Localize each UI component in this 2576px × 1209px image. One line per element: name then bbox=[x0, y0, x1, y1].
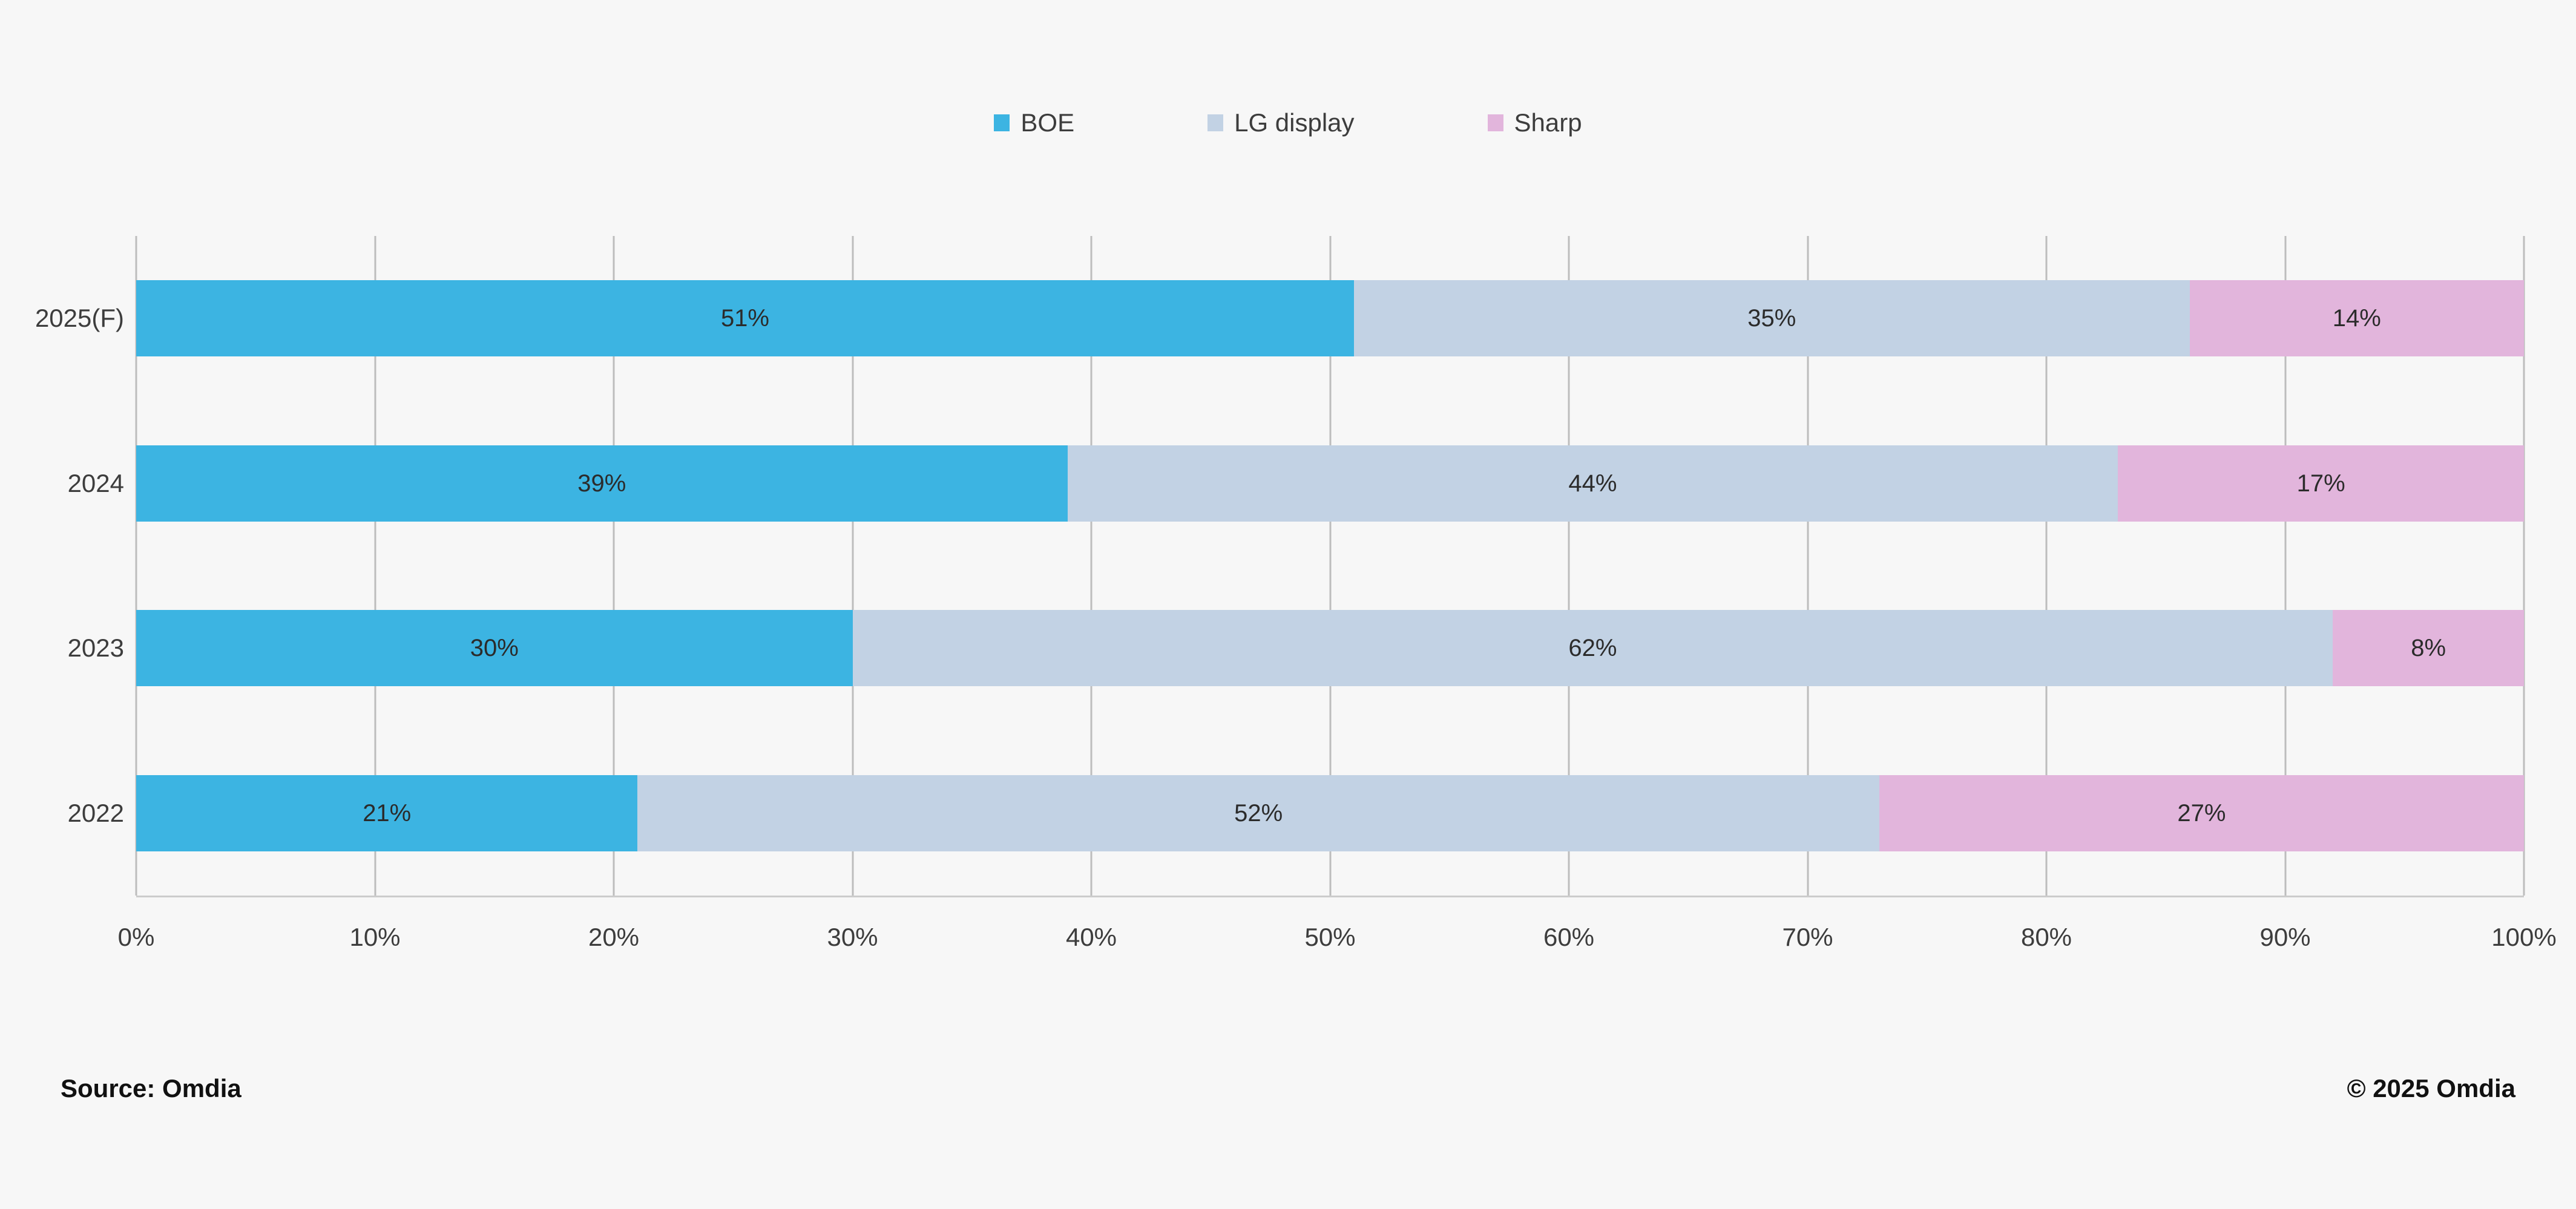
bar-segment-label: 44% bbox=[1568, 471, 1617, 496]
x-axis-tick-20: 20% bbox=[588, 925, 639, 950]
source-note: Source: Omdia bbox=[61, 1076, 241, 1101]
legend-swatch-boe bbox=[994, 114, 1010, 131]
legend-label-lg-display: LG display bbox=[1234, 110, 1354, 136]
bar-segment-label: 14% bbox=[2333, 306, 2381, 330]
bar-rows: 51%35%14%39%44%17%30%62%8%21%52%27% bbox=[136, 236, 2524, 896]
bar-segment-lg-display[interactable]: 52% bbox=[637, 775, 1879, 851]
bar-segment-label: 17% bbox=[2297, 471, 2345, 496]
y-axis-label-2022: 2022 bbox=[0, 801, 124, 826]
bar-row: 39%44%17% bbox=[136, 445, 2524, 522]
bar-segment-sharp[interactable]: 8% bbox=[2333, 610, 2524, 686]
x-axis-tick-40: 40% bbox=[1066, 925, 1117, 950]
x-axis-tick-60: 60% bbox=[1543, 925, 1594, 950]
bar-segment-label: 39% bbox=[577, 471, 626, 496]
bar-segment-label: 8% bbox=[2411, 636, 2446, 660]
bar-segment-boe[interactable]: 39% bbox=[136, 445, 1068, 522]
bar-segment-lg-display[interactable]: 62% bbox=[853, 610, 2333, 686]
x-axis-tick-0: 0% bbox=[118, 925, 155, 950]
x-axis-tick-10: 10% bbox=[349, 925, 400, 950]
bar-segment-boe[interactable]: 21% bbox=[136, 775, 637, 851]
bar-segment-label: 21% bbox=[363, 801, 411, 825]
legend-item-sharp[interactable]: Sharp bbox=[1488, 110, 1582, 136]
y-axis-label-2023: 2023 bbox=[0, 635, 124, 661]
legend-label-boe: BOE bbox=[1020, 110, 1074, 136]
x-axis-tick-70: 70% bbox=[1782, 925, 1833, 950]
bar-segment-sharp[interactable]: 27% bbox=[1879, 775, 2524, 851]
legend-swatch-lg-display bbox=[1207, 114, 1223, 131]
x-axis-tick-90: 90% bbox=[2259, 925, 2310, 950]
legend-item-lg-display[interactable]: LG display bbox=[1207, 110, 1354, 136]
x-axis-tick-100: 100% bbox=[2491, 925, 2556, 950]
y-axis-label-2024: 2024 bbox=[0, 471, 124, 496]
bar-segment-sharp[interactable]: 17% bbox=[2118, 445, 2524, 522]
legend-label-sharp: Sharp bbox=[1514, 110, 1582, 136]
bar-segment-label: 30% bbox=[470, 636, 519, 660]
bar-segment-sharp[interactable]: 14% bbox=[2190, 280, 2524, 356]
bar-row: 30%62%8% bbox=[136, 610, 2524, 686]
bar-segment-boe[interactable]: 51% bbox=[136, 280, 1354, 356]
bar-segment-lg-display[interactable]: 35% bbox=[1354, 280, 2190, 356]
legend-swatch-sharp bbox=[1488, 114, 1503, 131]
x-axis-line bbox=[136, 896, 2524, 897]
bar-segment-label: 35% bbox=[1747, 306, 1796, 330]
copyright-note: © 2025 Omdia bbox=[2347, 1076, 2515, 1101]
stacked-bar-chart: BOE LG display Sharp 51%35%14%39%44%17%3… bbox=[0, 0, 2576, 1209]
legend-item-boe[interactable]: BOE bbox=[994, 110, 1074, 136]
bar-segment-lg-display[interactable]: 44% bbox=[1068, 445, 2118, 522]
plot-area: 51%35%14%39%44%17%30%62%8%21%52%27% bbox=[136, 236, 2524, 896]
x-axis-tick-30: 30% bbox=[827, 925, 878, 950]
x-axis-tick-80: 80% bbox=[2021, 925, 2072, 950]
bar-row: 21%52%27% bbox=[136, 775, 2524, 851]
bar-row: 51%35%14% bbox=[136, 280, 2524, 356]
bar-segment-label: 51% bbox=[721, 306, 769, 330]
bar-segment-label: 62% bbox=[1568, 636, 1617, 660]
y-axis-label-2025f: 2025(F) bbox=[0, 306, 124, 331]
x-axis-tick-50: 50% bbox=[1304, 925, 1355, 950]
bar-segment-boe[interactable]: 30% bbox=[136, 610, 853, 686]
bar-segment-label: 52% bbox=[1234, 801, 1283, 825]
bar-segment-label: 27% bbox=[2177, 801, 2226, 825]
chart-legend: BOE LG display Sharp bbox=[0, 110, 2576, 136]
